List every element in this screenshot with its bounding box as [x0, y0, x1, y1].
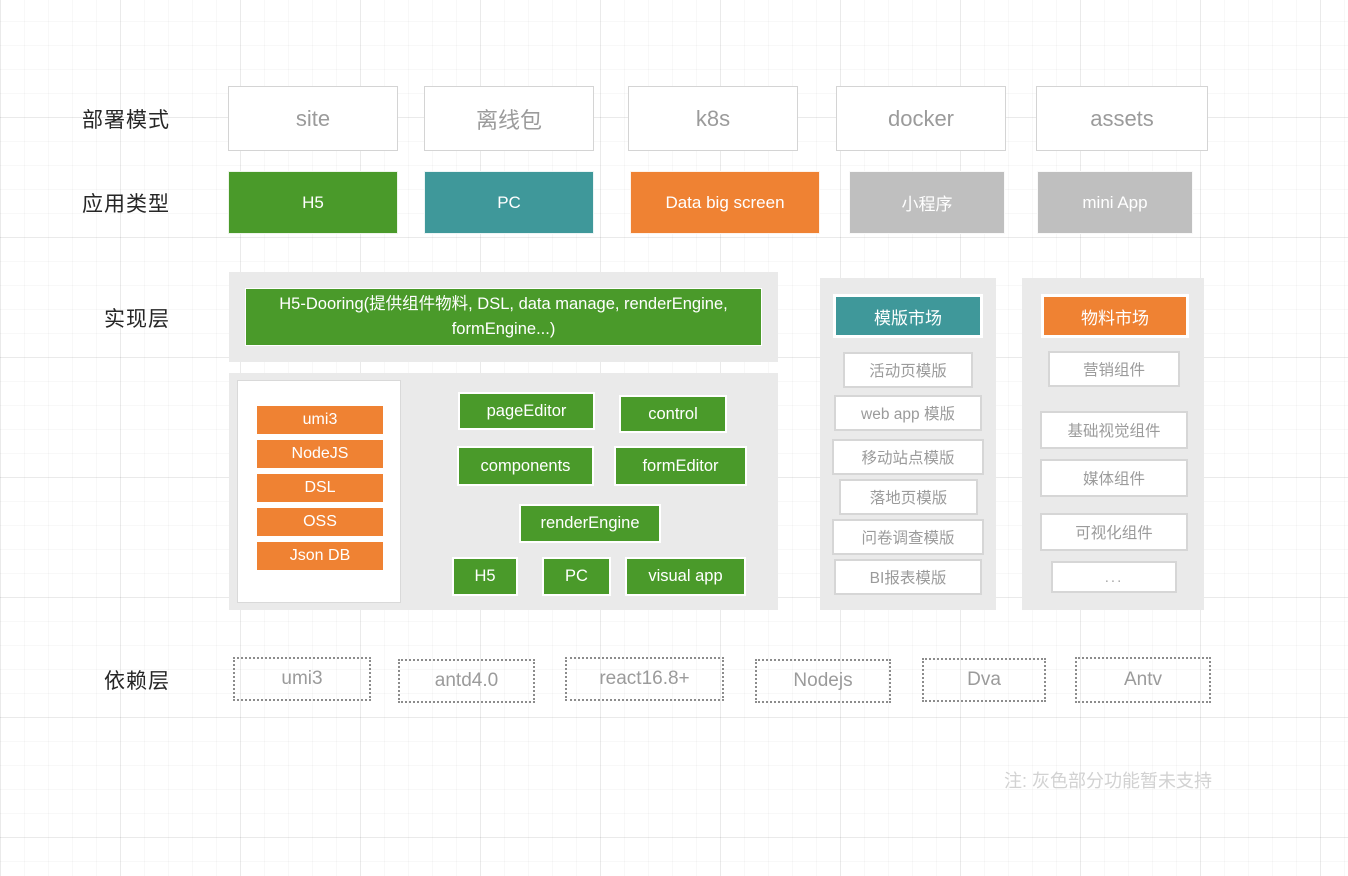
- template-item-label: web app 模版: [861, 402, 955, 424]
- material-item-marketing-components[interactable]: 营销组件: [1048, 351, 1180, 387]
- deploy-card-label: 离线包: [476, 103, 542, 135]
- module-visual-app[interactable]: visual app: [625, 557, 746, 596]
- stack-item-label: umi3: [303, 411, 338, 429]
- material-item-media-components[interactable]: 媒体组件: [1040, 459, 1188, 497]
- material-market-header-label: 物料市场: [1081, 304, 1149, 329]
- material-item-visualization-components[interactable]: 可视化组件: [1040, 513, 1188, 551]
- stack-item-umi3[interactable]: umi3: [256, 405, 384, 435]
- module-components[interactable]: components: [457, 446, 594, 486]
- stack-item-label: OSS: [303, 513, 337, 531]
- template-item-label: 活动页模版: [869, 359, 947, 381]
- template-item-label: 问卷调查模版: [861, 526, 954, 548]
- material-item-label: 基础视觉组件: [1067, 419, 1160, 441]
- deploy-card-label: site: [296, 106, 330, 132]
- material-item-basic-visual-components[interactable]: 基础视觉组件: [1040, 411, 1188, 449]
- material-item-label: ...: [1105, 569, 1124, 586]
- dependency-label: react16.8+: [599, 668, 689, 690]
- deploy-card-offline-package[interactable]: 离线包: [424, 86, 594, 151]
- app-type-label: PC: [497, 193, 521, 213]
- architecture-diagram: 部署模式 应用类型 实现层 依赖层 site 离线包 k8s docker as…: [0, 0, 1348, 876]
- app-type-pc[interactable]: PC: [424, 171, 594, 234]
- template-item-web-app[interactable]: web app 模版: [834, 395, 982, 431]
- template-item-label: BI报表模版: [870, 566, 947, 588]
- app-type-h5[interactable]: H5: [228, 171, 398, 234]
- template-item-bi-report[interactable]: BI报表模版: [834, 559, 982, 595]
- app-type-label: 小程序: [902, 190, 953, 215]
- row-label-deploy-mode: 部署模式: [82, 100, 212, 138]
- dependency-react[interactable]: react16.8+: [565, 657, 724, 701]
- implementation-modules-panel: umi3 NodeJS DSL OSS Json DB pageEditor c…: [229, 373, 778, 610]
- h5-dooring-header[interactable]: H5-Dooring(提供组件物料, DSL, data manage, ren…: [245, 288, 762, 346]
- deploy-card-site[interactable]: site: [228, 86, 398, 151]
- template-item-label: 移动站点模版: [861, 446, 954, 468]
- app-type-label: Data big screen: [665, 193, 784, 213]
- module-label: PC: [565, 567, 588, 586]
- stack-item-label: Json DB: [290, 547, 350, 565]
- module-form-editor[interactable]: formEditor: [614, 446, 747, 486]
- module-page-editor[interactable]: pageEditor: [458, 392, 595, 430]
- stack-item-oss[interactable]: OSS: [256, 507, 384, 537]
- template-market-column: 模版市场 活动页模版 web app 模版 移动站点模版 落地页模版 问卷调查模…: [820, 278, 996, 610]
- dependency-label: Dva: [967, 669, 1001, 691]
- stack-item-dsl[interactable]: DSL: [256, 473, 384, 503]
- implementation-header-panel: H5-Dooring(提供组件物料, DSL, data manage, ren…: [229, 272, 778, 362]
- row-label-app-type: 应用类型: [82, 184, 212, 222]
- module-pc[interactable]: PC: [542, 557, 611, 596]
- app-type-mini-program[interactable]: 小程序: [849, 171, 1005, 234]
- deploy-card-k8s[interactable]: k8s: [628, 86, 798, 151]
- app-type-mini-app[interactable]: mini App: [1037, 171, 1193, 234]
- module-control[interactable]: control: [619, 395, 727, 433]
- dependency-label: Antv: [1124, 669, 1162, 691]
- template-market-header[interactable]: 模版市场: [833, 294, 983, 338]
- stack-item-nodejs[interactable]: NodeJS: [256, 439, 384, 469]
- material-item-label: 媒体组件: [1083, 467, 1145, 489]
- row-label-dependency: 依赖层: [104, 661, 234, 699]
- stack-item-label: DSL: [304, 479, 335, 497]
- stack-item-label: NodeJS: [292, 445, 349, 463]
- material-item-label: 营销组件: [1083, 358, 1145, 380]
- template-item-label: 落地页模版: [870, 486, 948, 508]
- module-label: visual app: [648, 567, 722, 586]
- material-market-column: 物料市场 营销组件 基础视觉组件 媒体组件 可视化组件 ...: [1022, 278, 1204, 610]
- deploy-card-label: k8s: [696, 106, 730, 132]
- template-item-questionnaire[interactable]: 问卷调查模版: [832, 519, 984, 555]
- deploy-card-label: assets: [1090, 106, 1154, 132]
- material-item-label: 可视化组件: [1075, 521, 1153, 543]
- dependency-nodejs[interactable]: Nodejs: [755, 659, 891, 703]
- dependency-dva[interactable]: Dva: [922, 658, 1046, 702]
- dependency-antv[interactable]: Antv: [1075, 657, 1211, 703]
- dependency-antd[interactable]: antd4.0: [398, 659, 535, 703]
- module-label: control: [648, 405, 698, 424]
- h5-dooring-header-label: H5-Dooring(提供组件物料, DSL, data manage, ren…: [256, 292, 751, 342]
- module-render-engine[interactable]: renderEngine: [519, 504, 661, 543]
- app-type-label: H5: [302, 193, 324, 213]
- app-type-label: mini App: [1082, 193, 1147, 213]
- app-type-data-big-screen[interactable]: Data big screen: [630, 171, 820, 234]
- footnote-gray-unsupported: 注: 灰色部分功能暂未支持: [860, 766, 1212, 794]
- dependency-label: umi3: [281, 668, 322, 690]
- deploy-card-label: docker: [888, 106, 954, 132]
- stack-item-json-db[interactable]: Json DB: [256, 541, 384, 571]
- dependency-label: antd4.0: [435, 670, 498, 692]
- infrastructure-stack-card: umi3 NodeJS DSL OSS Json DB: [237, 380, 401, 603]
- row-label-implementation: 实现层: [104, 299, 234, 337]
- module-label: renderEngine: [540, 514, 639, 533]
- deploy-card-docker[interactable]: docker: [836, 86, 1006, 151]
- template-item-campaign-page[interactable]: 活动页模版: [843, 352, 973, 388]
- module-label: H5: [474, 567, 495, 586]
- template-market-header-label: 模版市场: [874, 304, 942, 329]
- module-h5[interactable]: H5: [452, 557, 518, 596]
- dependency-label: Nodejs: [793, 670, 852, 692]
- material-item-more[interactable]: ...: [1051, 561, 1177, 593]
- dependency-umi3[interactable]: umi3: [233, 657, 371, 701]
- material-market-header[interactable]: 物料市场: [1041, 294, 1189, 338]
- template-item-landing-page[interactable]: 落地页模版: [839, 479, 978, 515]
- deploy-card-assets[interactable]: assets: [1036, 86, 1208, 151]
- module-label: components: [481, 457, 571, 476]
- module-label: formEditor: [642, 457, 718, 476]
- module-label: pageEditor: [487, 402, 567, 421]
- template-item-mobile-site[interactable]: 移动站点模版: [832, 439, 984, 475]
